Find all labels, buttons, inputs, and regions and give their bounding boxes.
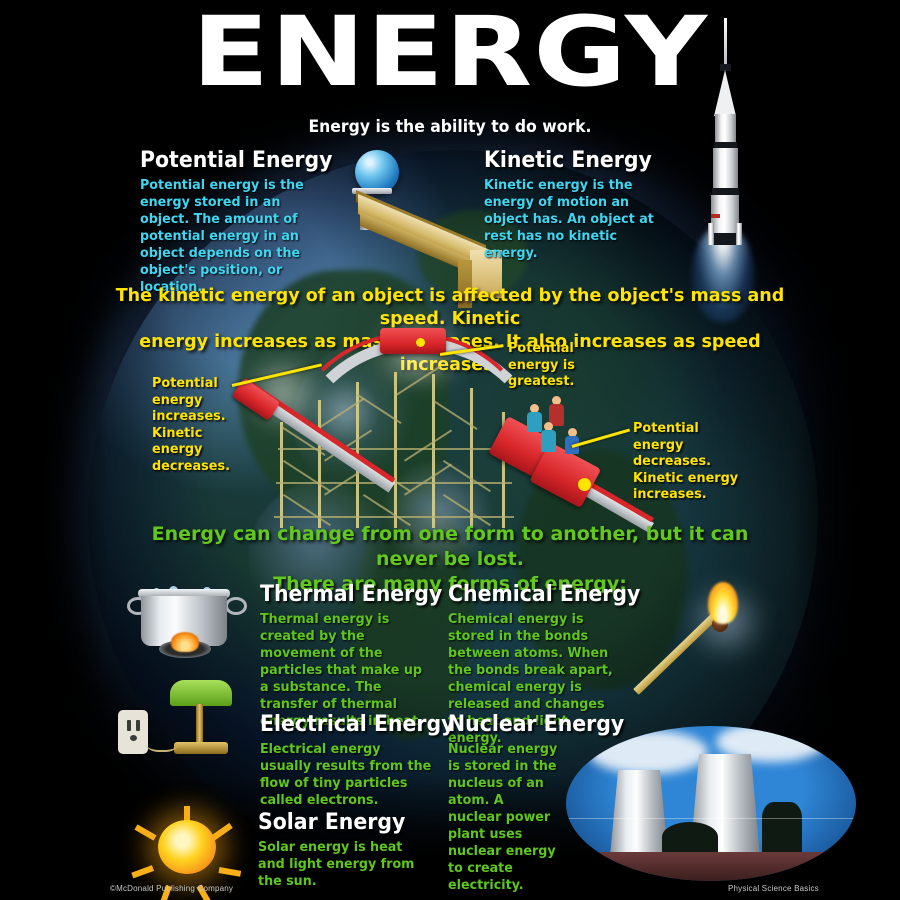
energy-poster: ENERGY Energy is the ability to do work.… [0, 0, 900, 900]
lamp-shade [170, 680, 232, 706]
nuclear-plant-hill [662, 822, 718, 852]
kinetic-energy-heading: Kinetic Energy [484, 148, 661, 173]
match-illustration [628, 580, 768, 710]
nuclear-energy-body: Nuclear energy is stored in the nucleus … [448, 741, 561, 894]
nuclear-plant-ground [566, 852, 856, 881]
electrical-energy-heading: Electrical Energy [260, 712, 432, 737]
nuclear-energy-section: Nuclear Energy Nuclear energy is stored … [448, 712, 568, 894]
rocket-stripe [711, 214, 720, 218]
sun-disc [158, 820, 216, 874]
lamp-base [174, 742, 228, 754]
nuclear-energy-heading: Nuclear Energy [448, 712, 560, 737]
kinetic-banner-line-1: The kinetic energy of an object is affec… [110, 285, 790, 331]
rider-body-3 [541, 430, 556, 452]
ramp-ball-illustration [330, 140, 500, 280]
rocket-stage-2 [713, 148, 738, 190]
potential-energy-heading: Potential Energy [140, 148, 312, 173]
coaster-car-top-emblem [416, 338, 425, 347]
lamp-stem [196, 704, 203, 744]
callout-top: Potential energy is greatest. [508, 340, 622, 390]
rocket-nose-cone [714, 70, 736, 116]
poster-title: ENERGY [0, 4, 900, 100]
rider-body-1 [527, 412, 542, 432]
credit-right: Physical Science Basics [728, 884, 819, 893]
electrical-energy-body: Electrical energy usually results from t… [260, 741, 434, 809]
rocket-engine-skirt [713, 233, 737, 245]
callout-left: Potential energy increases. Kinetic ener… [152, 375, 224, 474]
rocket-escape-tower [724, 18, 727, 66]
outlet-ground-hole [130, 735, 137, 741]
kinetic-energy-body: Kinetic energy is the energy of motion a… [484, 177, 663, 262]
nuclear-plant-illustration [566, 726, 856, 881]
potential-energy-section: Potential Energy Potential energy is the… [140, 148, 325, 296]
kinetic-energy-section: Kinetic Energy Kinetic energy is the ene… [484, 148, 674, 262]
rocket-fin-left [708, 223, 714, 245]
rocket-stage-3 [715, 114, 736, 144]
nuclear-plant-fence-top [566, 818, 856, 819]
coaster-car-top [380, 328, 446, 354]
cooling-tower-left [610, 770, 668, 856]
pot-handle-right [225, 597, 247, 615]
lamp-power-cord [146, 732, 178, 752]
rocket-illustration [690, 18, 760, 288]
thermal-energy-heading: Thermal Energy [260, 582, 427, 607]
outlet-slot-left [127, 720, 131, 731]
match-flame [708, 582, 738, 624]
wall-outlet [118, 710, 148, 754]
forms-banner-line-1: Energy can change from one form to anoth… [140, 522, 760, 572]
sun-ray-3 [218, 867, 241, 877]
solar-energy-section: Solar Energy Solar energy is heat and li… [258, 810, 433, 890]
solar-energy-body: Solar energy is heat and light energy fr… [258, 839, 423, 890]
desk-lamp-illustration [118, 680, 248, 780]
rocket-fin-right [736, 223, 742, 245]
sun-illustration [140, 806, 240, 886]
potential-energy-body: Potential energy is the energy stored in… [140, 177, 314, 296]
electrical-energy-section: Electrical Energy Electrical energy usua… [260, 712, 445, 809]
burner-flame [171, 632, 199, 652]
nuclear-plant-silhouette [762, 802, 802, 854]
nuclear-plant-cloud-1 [588, 730, 708, 774]
chemical-energy-heading: Chemical Energy [448, 582, 615, 607]
truss-vertical-1 [280, 422, 283, 528]
credit-left: ©McDonald Publishing Company [110, 884, 233, 893]
solar-energy-heading: Solar Energy [258, 810, 421, 835]
outlet-slot-right [136, 720, 140, 731]
thermal-energy-section: Thermal Energy Thermal energy is created… [260, 582, 440, 730]
rocket-interstage-2 [712, 188, 739, 195]
coaster-car-rear-emblem [578, 478, 591, 491]
boiling-pot-illustration [125, 580, 245, 670]
callout-right: Potential energy decreases. Kinetic ener… [633, 420, 747, 503]
